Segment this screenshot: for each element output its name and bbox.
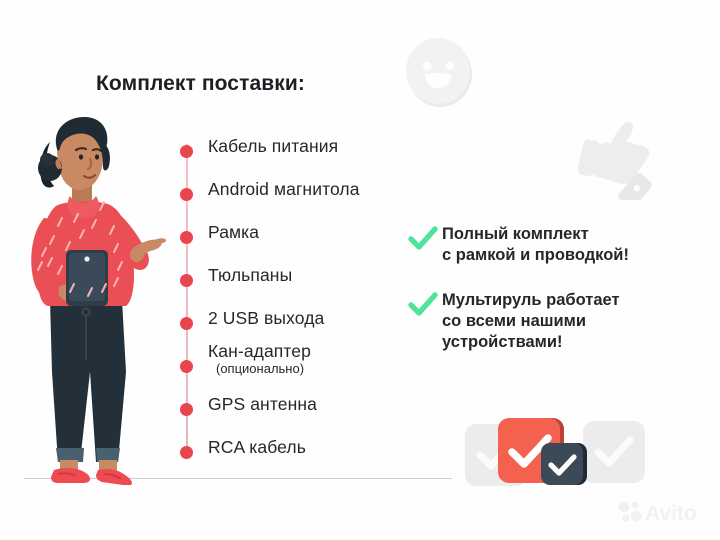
list-item-sublabel: (опционально) (216, 361, 304, 376)
bullet-dot-icon (180, 317, 193, 330)
page-title: Комплект поставки: (96, 72, 305, 96)
list-item: Кан-адаптер (опционально) (180, 353, 440, 379)
list-item: Кабель питания (180, 138, 440, 164)
bullet-dot-icon (180, 231, 193, 244)
bullet-dot-icon (180, 403, 193, 416)
bullet-dot-icon (180, 274, 193, 287)
avito-logo-icon: Avito (617, 499, 713, 525)
list-item-label: RCA кабель (208, 437, 306, 458)
green-check-icon (408, 226, 438, 252)
bullet-dot-icon (180, 360, 193, 373)
list-item: GPS антенна (180, 396, 440, 422)
list-item: Рамка (180, 224, 440, 250)
bullet-dot-icon (180, 145, 193, 158)
list-item: Android магнитола (180, 181, 440, 207)
benefit-text: Полный комплект с рамкой и проводкой! (442, 224, 629, 266)
avito-wordmark: Avito (645, 502, 697, 525)
promo-banner: Комплект поставки: Кабель питания Androi… (0, 0, 720, 540)
woman-pointing-illustration (14, 110, 174, 485)
list-item-label: Тюльпаны (208, 265, 292, 286)
spec-list: Кабель питания Android магнитола Рамка Т… (180, 130, 440, 460)
checkbox-card-dark (541, 443, 583, 485)
checkbox-card-icon (594, 435, 634, 469)
smiley-face-icon (403, 36, 475, 108)
bullet-dot-icon (180, 446, 193, 459)
benefit-text: Мультируль работает со всеми нашими устр… (442, 290, 620, 353)
list-item-label: Кабель питания (208, 136, 338, 157)
list-item-label: Android магнитола (208, 179, 360, 200)
list-item: Тюльпаны (180, 267, 440, 293)
list-item: 2 USB выхода (180, 310, 440, 336)
list-item-label: GPS антенна (208, 394, 317, 415)
list-item-label: 2 USB выхода (208, 308, 324, 329)
list-item-label: Рамка (208, 222, 259, 243)
green-check-icon (408, 292, 438, 318)
checkbox-card-icon (548, 454, 577, 477)
list-item-label: Кан-адаптер (208, 341, 311, 362)
checkbox-card-grey-right (583, 421, 645, 483)
list-item: RCA кабель (180, 439, 440, 465)
bullet-dot-icon (180, 188, 193, 201)
thumbs-up-icon (578, 112, 660, 200)
checkbox-card-cluster (465, 415, 645, 493)
